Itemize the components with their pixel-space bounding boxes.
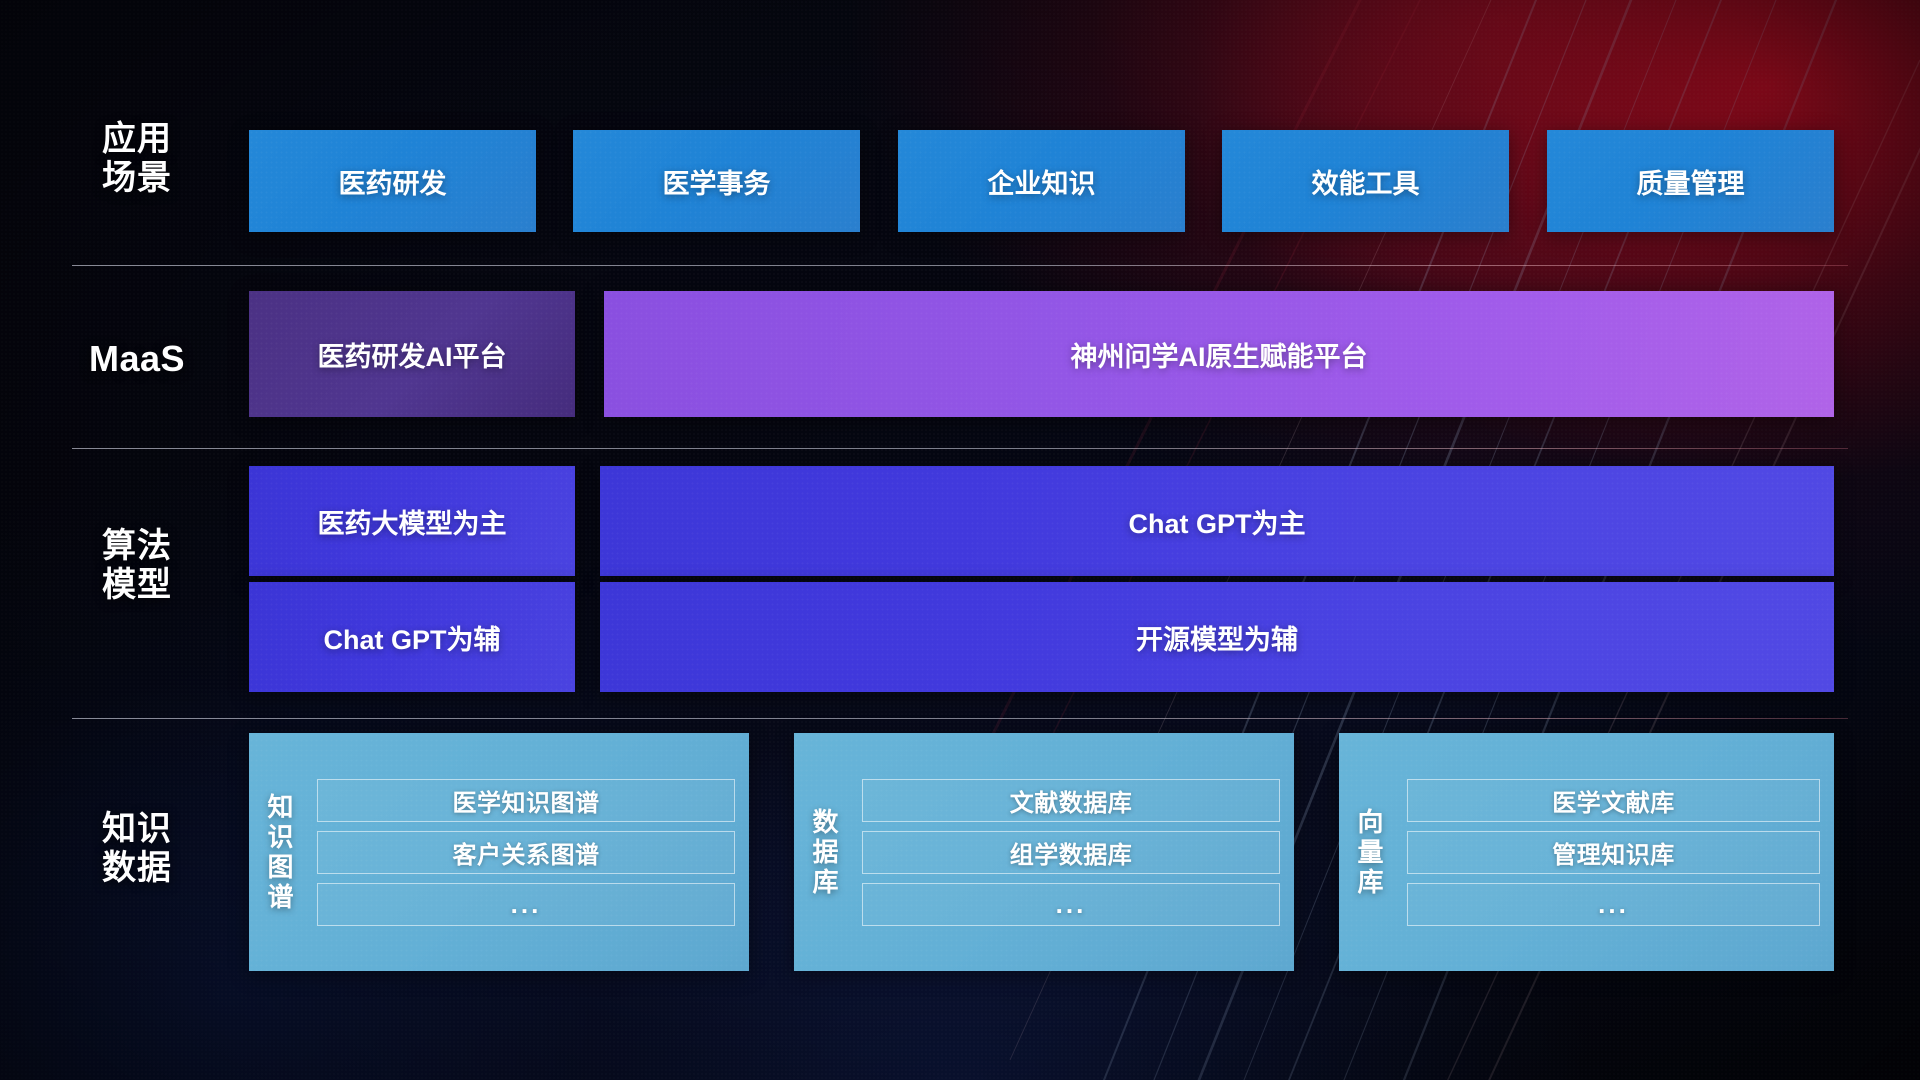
algorithm-card-chatgpt-primary-label: Chat GPT为主 (1128, 502, 1305, 541)
knowledge-item-kg-3[interactable]: ... (317, 883, 735, 926)
row-label-maas: MaaS (72, 338, 202, 379)
divider-2 (72, 448, 1848, 449)
app-scenario-card-4-label: 效能工具 (1312, 162, 1420, 201)
maas-platform-card-shenzhou[interactable]: 神州问学AI原生赋能平台 (604, 291, 1834, 417)
knowledge-group-knowledge-graph-title: 知 识 图 谱 (249, 792, 313, 913)
maas-platform-card-medical[interactable]: 医药研发AI平台 (249, 291, 575, 417)
slide-canvas: 神州问学 应用 场景 医药研发 医学事务 企业知识 效能工具 质量管理 MaaS… (0, 0, 1920, 1080)
architecture-diagram: 应用 场景 医药研发 医学事务 企业知识 效能工具 质量管理 MaaS 医药研发… (0, 0, 1920, 1080)
algorithm-card-medical-primary-label: 医药大模型为主 (318, 502, 507, 541)
app-scenario-card-5[interactable]: 质量管理 (1547, 130, 1834, 232)
knowledge-group-vector-store-title: 向 量 库 (1339, 807, 1403, 897)
app-scenario-card-2-label: 医学事务 (663, 162, 771, 201)
knowledge-item-db-2[interactable]: 组学数据库 (862, 831, 1280, 874)
knowledge-item-vs-3[interactable]: ... (1407, 883, 1820, 926)
algorithm-card-chatgpt-secondary-label: Chat GPT为辅 (323, 618, 500, 657)
maas-platform-card-shenzhou-label: 神州问学AI原生赋能平台 (1071, 335, 1368, 374)
row-label-knowledge-data: 知识 数据 (72, 810, 202, 888)
knowledge-item-vs-1[interactable]: 医学文献库 (1407, 779, 1820, 822)
knowledge-group-knowledge-graph[interactable]: 知 识 图 谱 医学知识图谱 客户关系图谱 ... (249, 733, 749, 971)
algorithm-card-opensource-secondary-label: 开源模型为辅 (1136, 618, 1298, 657)
algorithm-card-chatgpt-primary[interactable]: Chat GPT为主 (600, 466, 1834, 576)
knowledge-group-vector-store-items: 医学文献库 管理知识库 ... (1403, 779, 1834, 926)
algorithm-card-opensource-secondary[interactable]: 开源模型为辅 (600, 582, 1834, 692)
knowledge-group-database-items: 文献数据库 组学数据库 ... (858, 779, 1294, 926)
knowledge-group-database-title: 数 据 库 (794, 807, 858, 897)
knowledge-group-database[interactable]: 数 据 库 文献数据库 组学数据库 ... (794, 733, 1294, 971)
app-scenario-card-2[interactable]: 医学事务 (573, 130, 860, 232)
app-scenario-card-3[interactable]: 企业知识 (898, 130, 1185, 232)
algorithm-card-medical-primary[interactable]: 医药大模型为主 (249, 466, 575, 576)
app-scenario-card-5-label: 质量管理 (1637, 162, 1745, 201)
knowledge-item-db-1[interactable]: 文献数据库 (862, 779, 1280, 822)
knowledge-group-vector-store[interactable]: 向 量 库 医学文献库 管理知识库 ... (1339, 733, 1834, 971)
row-label-algorithm-models: 算法 模型 (72, 527, 202, 605)
knowledge-item-kg-2[interactable]: 客户关系图谱 (317, 831, 735, 874)
divider-3 (72, 718, 1848, 719)
app-scenario-card-1-label: 医药研发 (339, 162, 447, 201)
app-scenario-card-3-label: 企业知识 (988, 162, 1096, 201)
knowledge-item-db-3[interactable]: ... (862, 883, 1280, 926)
app-scenario-card-4[interactable]: 效能工具 (1222, 130, 1509, 232)
row-label-application-scenarios: 应用 场景 (72, 120, 202, 198)
knowledge-item-kg-1[interactable]: 医学知识图谱 (317, 779, 735, 822)
maas-platform-card-medical-label: 医药研发AI平台 (318, 335, 507, 374)
algorithm-card-chatgpt-secondary[interactable]: Chat GPT为辅 (249, 582, 575, 692)
knowledge-item-vs-2[interactable]: 管理知识库 (1407, 831, 1820, 874)
knowledge-group-knowledge-graph-items: 医学知识图谱 客户关系图谱 ... (313, 779, 749, 926)
app-scenario-card-1[interactable]: 医药研发 (249, 130, 536, 232)
divider-1 (72, 265, 1848, 266)
